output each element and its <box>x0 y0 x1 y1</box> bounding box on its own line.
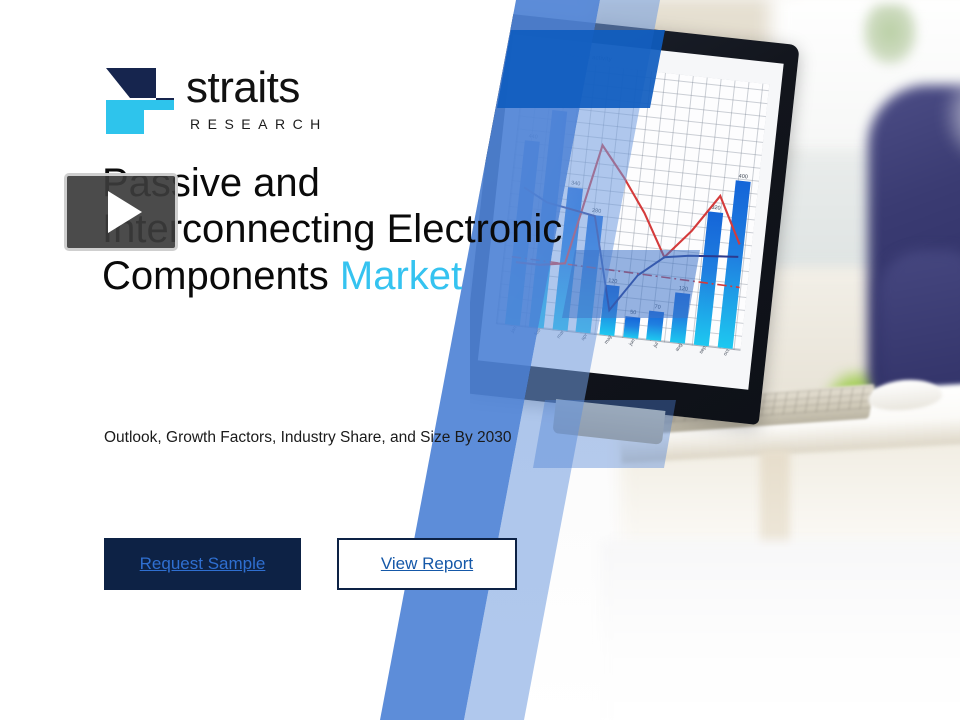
page-title: Passive and Interconnecting Electronic C… <box>102 160 682 299</box>
straits-logo-mark <box>104 64 178 136</box>
play-icon <box>108 191 142 233</box>
title-line-3: Components <box>102 254 340 298</box>
window-glare <box>940 60 960 170</box>
hero-photo: Data and prognosis of activity 440520340… <box>470 0 960 720</box>
request-sample-button[interactable]: Request Sample <box>104 538 301 590</box>
subtitle-line-2: By 2030 <box>455 429 512 446</box>
view-report-button[interactable]: View Report <box>337 538 517 590</box>
title-accent-word: Market <box>340 254 462 298</box>
slide-root: Data and prognosis of activity 440520340… <box>0 0 960 720</box>
play-button[interactable] <box>64 173 178 251</box>
brand-logo[interactable]: straits RESEARCH <box>104 62 404 142</box>
brand-name: straits <box>186 66 300 110</box>
brand-tagline: RESEARCH <box>190 116 328 132</box>
subtitle-line-1: Outlook, Growth Factors, Industry Share,… <box>104 429 450 446</box>
photo-background: Data and prognosis of activity 440520340… <box>470 0 960 720</box>
page-subtitle: Outlook, Growth Factors, Industry Share,… <box>104 426 554 450</box>
cta-row: Request Sample View Report <box>104 538 517 590</box>
desk-foreground <box>600 540 960 720</box>
plant-icon <box>862 4 918 66</box>
